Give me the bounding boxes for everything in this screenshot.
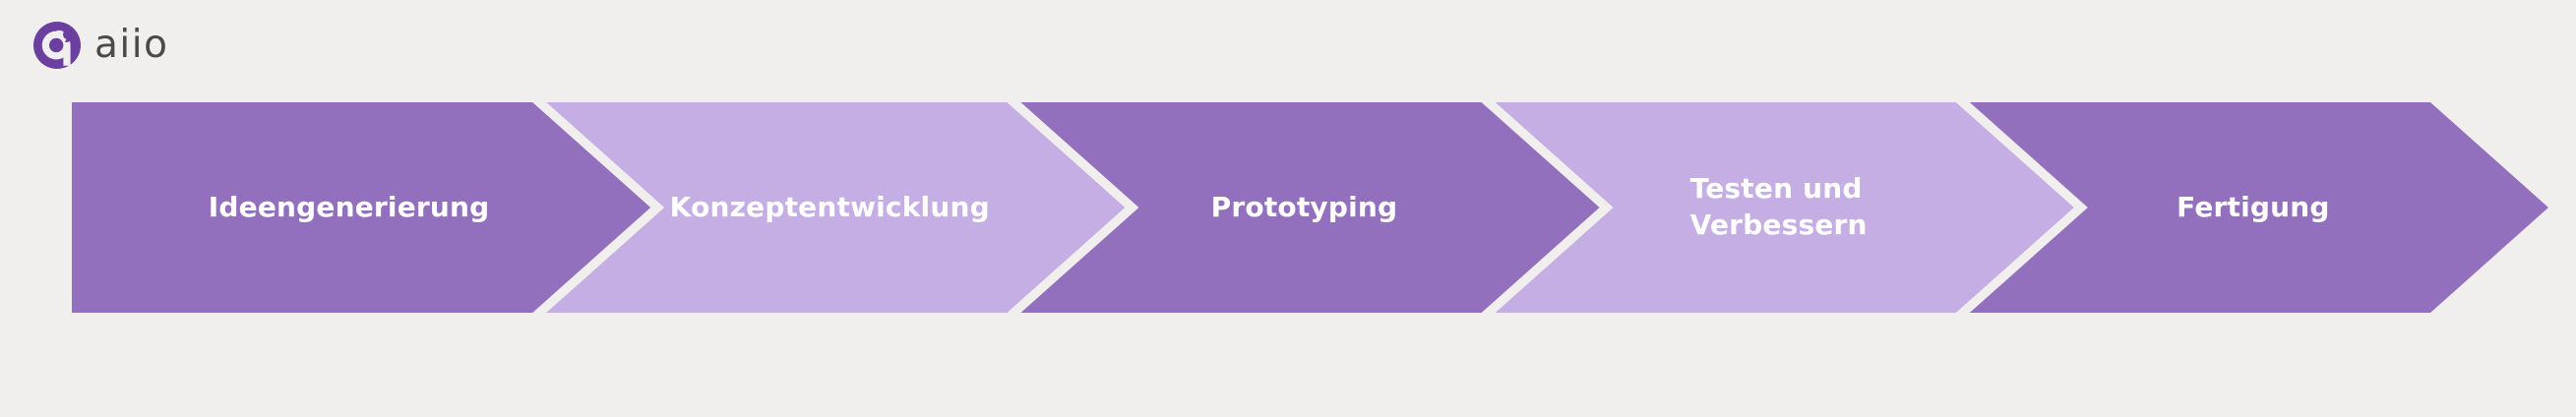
process-step-1[interactable]: Ideengenerierung [72, 102, 650, 313]
process-step-5-label: Fertigung [2177, 190, 2330, 226]
process-step-3-label: Prototyping [1211, 190, 1398, 226]
aiio-circular-mark-icon [33, 22, 81, 69]
brand-wordmark: aiio [94, 26, 168, 64]
brand-logo: aiio [33, 20, 168, 71]
process-step-4-label: Testen und Verbessern [1690, 171, 1868, 244]
process-step-1-label: Ideengenerierung [209, 190, 490, 226]
process-step-2-label: Konzeptentwicklung [670, 190, 990, 226]
process-flow-diagram: Ideengenerierung Konzeptentwicklung Prot… [0, 102, 2576, 313]
